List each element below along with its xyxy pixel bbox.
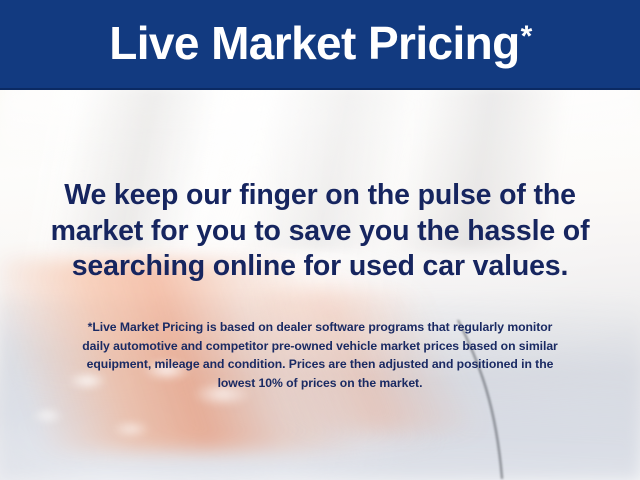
page-title-asterisk: * [521,20,532,53]
disclaimer-line-3: equipment, mileage and condition. Prices… [26,355,614,374]
headline: We keep our finger on the pulse of the m… [22,178,618,285]
page-title: Live Market Pricing* [109,20,531,66]
headline-line-1: We keep our finger on the pulse of the [22,178,618,214]
header-banner: Live Market Pricing* [0,0,640,90]
headline-line-2: market for you to save you the hassle of [22,214,618,250]
headline-line-3: searching online for used car values. [22,249,618,285]
live-market-pricing-card: Live Market Pricing* We keep our finger … [0,0,640,480]
disclaimer-line-2: daily automotive and competitor pre-owne… [26,337,614,356]
disclaimer-line-1: *Live Market Pricing is based on dealer … [26,318,614,337]
content-area: We keep our finger on the pulse of the m… [0,90,640,480]
disclaimer-text: *Live Market Pricing is based on dealer … [26,318,614,392]
page-title-text: Live Market Pricing [109,17,519,69]
disclaimer-line-4: lowest 10% of prices on the market. [26,374,614,393]
